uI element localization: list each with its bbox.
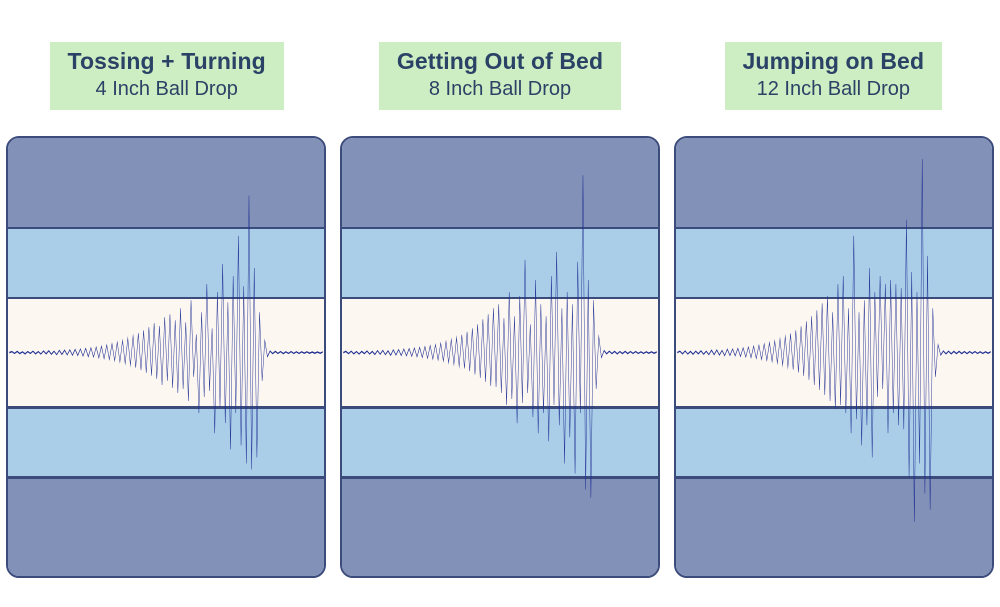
waveform-svg-3 [676, 138, 992, 576]
header-subtitle-2: 8 Inch Ball Drop [397, 78, 603, 102]
header-label-2: Getting Out of Bed 8 Inch Ball Drop [379, 42, 621, 110]
header-label-3: Jumping on Bed 12 Inch Ball Drop [725, 42, 943, 110]
seismograph-figure: Tossing + Turning 4 Inch Ball Drop Getti… [0, 0, 1000, 607]
header-cell-2: Getting Out of Bed 8 Inch Ball Drop [333, 0, 666, 130]
waveform-svg-1 [8, 138, 324, 576]
waveform-trace-3 [677, 159, 990, 522]
header-title-2: Getting Out of Bed [397, 48, 603, 75]
header-label-1: Tossing + Turning 4 Inch Ball Drop [50, 42, 284, 110]
header-cell-3: Jumping on Bed 12 Inch Ball Drop [667, 0, 1000, 130]
seismograph-panel-1 [6, 136, 326, 578]
waveform-container-3 [676, 138, 992, 576]
seismograph-panel-3 [674, 136, 994, 578]
panel-headers: Tossing + Turning 4 Inch Ball Drop Getti… [0, 0, 1000, 130]
header-cell-1: Tossing + Turning 4 Inch Ball Drop [0, 0, 333, 130]
seismograph-panels [6, 136, 994, 580]
waveform-trace-2 [343, 175, 656, 497]
header-title-3: Jumping on Bed [743, 48, 925, 75]
waveform-trace-1 [9, 195, 322, 469]
header-subtitle-3: 12 Inch Ball Drop [743, 78, 925, 102]
waveform-container-2 [342, 138, 658, 576]
waveform-svg-2 [342, 138, 658, 576]
header-title-1: Tossing + Turning [68, 48, 266, 75]
waveform-container-1 [8, 138, 324, 576]
seismograph-panel-2 [340, 136, 660, 578]
header-subtitle-1: 4 Inch Ball Drop [68, 78, 266, 102]
